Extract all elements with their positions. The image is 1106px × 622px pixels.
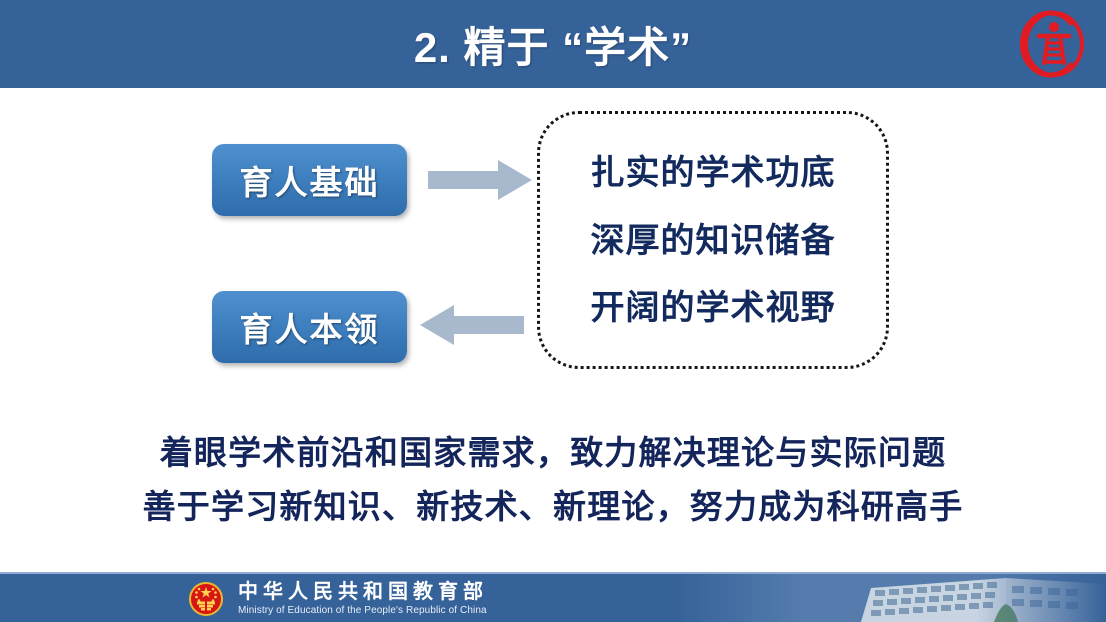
attribute-line: 扎实的学术功底 — [591, 145, 836, 194]
statement-block: 着眼学术前沿和国家需求，致力解决理论与实际问题 善于学习新知识、新技术、新理论，… — [0, 426, 1106, 535]
slide-footer: 中华人民共和国教育部 Ministry of Education of the … — [0, 572, 1106, 622]
slide-body: 育人基础 育人本领 扎实的学术功底 深厚的知识储备 开阔的学术视野 着眼学术前沿… — [0, 88, 1106, 572]
footer-brand: 中华人民共和国教育部 Ministry of Education of the … — [186, 576, 488, 622]
attribute-line: 深厚的知识储备 — [591, 213, 836, 262]
footer-org-en: Ministry of Education of the People's Re… — [238, 606, 488, 617]
statement-line: 着眼学术前沿和国家需求，致力解决理论与实际问题 — [0, 426, 1106, 480]
page-title: 2. 精于 “学术” — [0, 0, 1106, 88]
pill-label: 育人本领 — [240, 303, 380, 351]
dotted-attributes-box: 扎实的学术功底 深厚的知识储备 开阔的学术视野 — [537, 111, 889, 369]
pill-label: 育人基础 — [240, 156, 380, 204]
footer-text: 中华人民共和国教育部 Ministry of Education of the … — [238, 582, 488, 617]
arrow-left-icon — [420, 303, 524, 347]
slide-root: 2. 精于 “学术” 育人基础 — [0, 0, 1106, 622]
footer-org-cn: 中华人民共和国教育部 — [238, 582, 488, 603]
university-red-circular-logo — [1016, 6, 1092, 82]
china-national-emblem — [186, 579, 226, 619]
ministry-building-photo — [676, 574, 1106, 622]
attribute-line: 开阔的学术视野 — [591, 280, 836, 329]
pill-yuren-jichu: 育人基础 — [212, 144, 407, 216]
arrow-right-icon — [428, 158, 532, 202]
pill-yuren-benling: 育人本领 — [212, 291, 407, 363]
statement-line: 善于学习新知识、新技术、新理论，努力成为科研高手 — [0, 480, 1106, 534]
slide-header: 2. 精于 “学术” — [0, 0, 1106, 88]
